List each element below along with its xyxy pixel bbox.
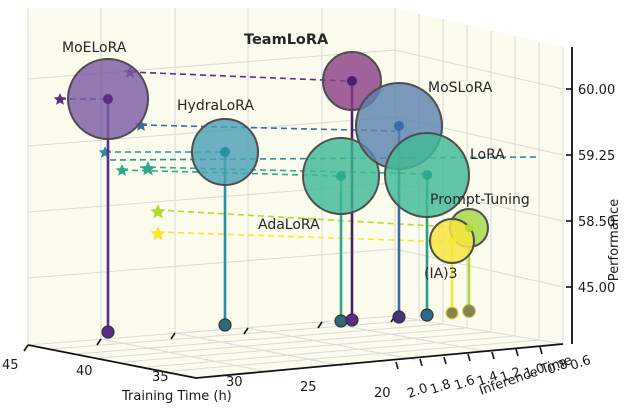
z-tick-59-25: 59.25 [578, 149, 615, 164]
label-adalora: AdaLoRA [258, 217, 320, 233]
x-tick-35: 35 [152, 370, 169, 385]
x-tick-45: 45 [2, 358, 19, 373]
x-tick-25: 25 [300, 380, 317, 395]
base-dot-ia3 [446, 307, 458, 319]
label-moelora: MoELoRA [62, 40, 127, 56]
base-dot-hydralora [219, 319, 231, 331]
chart-svg: MoELoRA TeamLoRA HydraLoRA MoSLoRA LoRA … [0, 0, 624, 408]
label-lora: LoRA [470, 147, 505, 163]
label-prompt-tuning: Prompt-Tuning [430, 192, 530, 208]
label-moslora: MoSLoRA [428, 80, 493, 96]
base-dot-teamlora [346, 314, 358, 326]
label-teamlora: TeamLoRA [244, 32, 329, 48]
z-tick-45-00: 45.00 [578, 281, 615, 296]
base-dot-adalora [335, 315, 347, 327]
label-ia3: (IA)3 [424, 266, 458, 282]
base-dot-lora [421, 309, 433, 321]
z-axis-title: Performance [607, 199, 622, 281]
base-dot-moslora [393, 311, 405, 323]
x-tick-20: 20 [374, 386, 391, 401]
label-hydralora: HydraLoRA [177, 98, 254, 114]
x-tick-40: 40 [76, 364, 93, 379]
x-axis-title: Training Time (h) [121, 389, 232, 404]
base-dot-prompt-tuning [463, 305, 475, 317]
z-tick-60-00: 60.00 [578, 83, 615, 98]
base-dot-moelora [102, 326, 114, 338]
chart-root: MoELoRA TeamLoRA HydraLoRA MoSLoRA LoRA … [0, 0, 624, 408]
x-tick-30: 30 [226, 375, 243, 390]
